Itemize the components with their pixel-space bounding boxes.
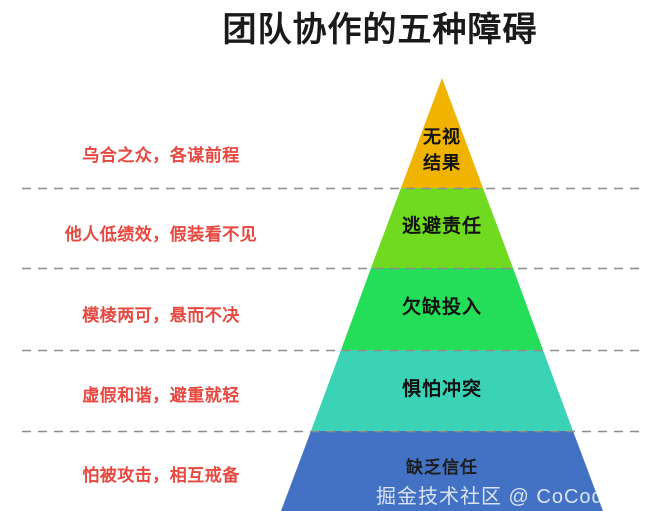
pyramid-graphic	[0, 0, 650, 511]
side-note-tier-2: 他人低绩效，假装看不见	[36, 220, 286, 245]
pyramid-diagram: 团队协作的五种障碍 无视 结果 逃避责任 欠缺投入 惧怕冲突 缺乏信任 乌合之众…	[0, 0, 650, 511]
pyramid-tier-5-label: 缺乏信任	[372, 455, 512, 481]
side-note-tier-4: 虚假和谐，避重就轻	[36, 381, 286, 406]
pyramid-tier-3-label: 欠缺投入	[372, 295, 512, 321]
pyramid-tier-4-label: 惧怕冲突	[372, 377, 512, 403]
pyramid-tier-1-label: 无视 结果	[372, 124, 512, 176]
side-note-tier-3: 模棱两可，悬而不决	[36, 301, 286, 326]
side-note-tier-5: 怕被攻击，相互戒备	[36, 461, 286, 486]
pyramid-tier-2-label: 逃避责任	[372, 214, 512, 240]
watermark: 掘金技术社区 @ CoCode开发云	[376, 480, 650, 509]
side-note-tier-1: 乌合之众，各谋前程	[36, 141, 286, 166]
